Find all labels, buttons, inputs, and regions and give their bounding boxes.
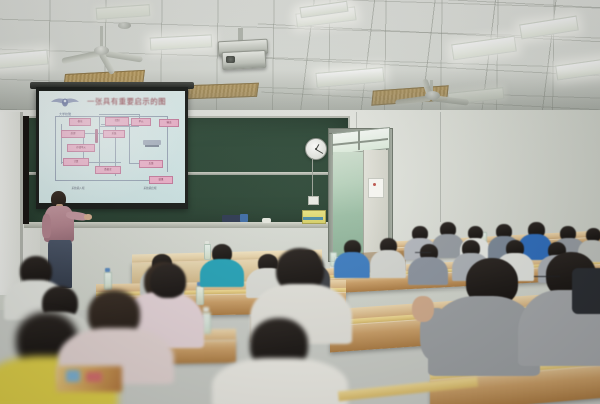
flowchart-shape: [145, 145, 159, 147]
bottle-cap: [205, 241, 209, 244]
left-door-panel: [0, 112, 22, 292]
book-graphic: [86, 372, 102, 382]
transom-mullion: [358, 130, 360, 150]
lecture-hall-photo: 大学校徽 一张具有重要启示的图: [0, 0, 600, 404]
water-bottle: [204, 244, 211, 260]
flowchart-arrow: [95, 129, 98, 143]
flowchart-box: 计算: [63, 158, 89, 166]
chalk-piece: [262, 218, 271, 223]
bottle-cap: [203, 307, 209, 312]
wall-outlet: [308, 196, 319, 205]
presenter-hand: [84, 214, 92, 220]
flowchart-box: 采集: [103, 130, 125, 138]
flowchart-box: 输出: [159, 119, 179, 127]
chalk-box: [222, 215, 242, 222]
flowchart-box: 单元: [131, 118, 151, 126]
flowchart-box: 数据库: [95, 166, 121, 174]
flowchart-caption: 系统输入端: [55, 186, 101, 190]
flowchart-box: 反馈: [139, 160, 163, 168]
flowchart-box: 控制: [105, 117, 129, 126]
book-graphic: [66, 370, 80, 382]
flowchart-box: 处理: [61, 130, 85, 138]
backpack: [572, 268, 600, 314]
slide-title: 一张具有重要启示的图: [87, 96, 166, 107]
wall-clock: [305, 138, 327, 160]
bottle-cap: [105, 268, 110, 272]
presenter-arm: [42, 214, 51, 238]
flowchart-box: 存储单元: [67, 144, 95, 152]
clock-center-pin: [315, 148, 317, 150]
eraser: [240, 214, 248, 222]
ceiling-fan-rod: [100, 26, 103, 48]
water-bottle: [196, 286, 204, 305]
presenter-pants: [48, 240, 72, 288]
wall-sign-stripe: [303, 217, 323, 220]
chalkboard-edge-shadow: [23, 116, 29, 224]
wall-seam: [440, 112, 441, 222]
clock-cable: [312, 158, 313, 196]
flowchart-box: 结果: [149, 176, 173, 184]
smoke-detector-icon: [118, 22, 131, 29]
door-notice-mark: [373, 183, 376, 186]
flowchart-caption: 系统输出端: [127, 186, 173, 190]
slide-flowchart: 模块 控制 单元 输出 处理 采集 存储单元 计算 数据库 反馈 结果 系统输入…: [43, 116, 181, 194]
water-bottle: [104, 272, 112, 290]
projector-lens-icon: [226, 56, 235, 63]
flowchart-box: 模块: [69, 118, 91, 126]
presentation-slide: 大学校徽 一张具有重要启示的图: [39, 91, 185, 203]
door-notice: [368, 178, 384, 198]
ceiling-fan-hub: [94, 46, 109, 55]
